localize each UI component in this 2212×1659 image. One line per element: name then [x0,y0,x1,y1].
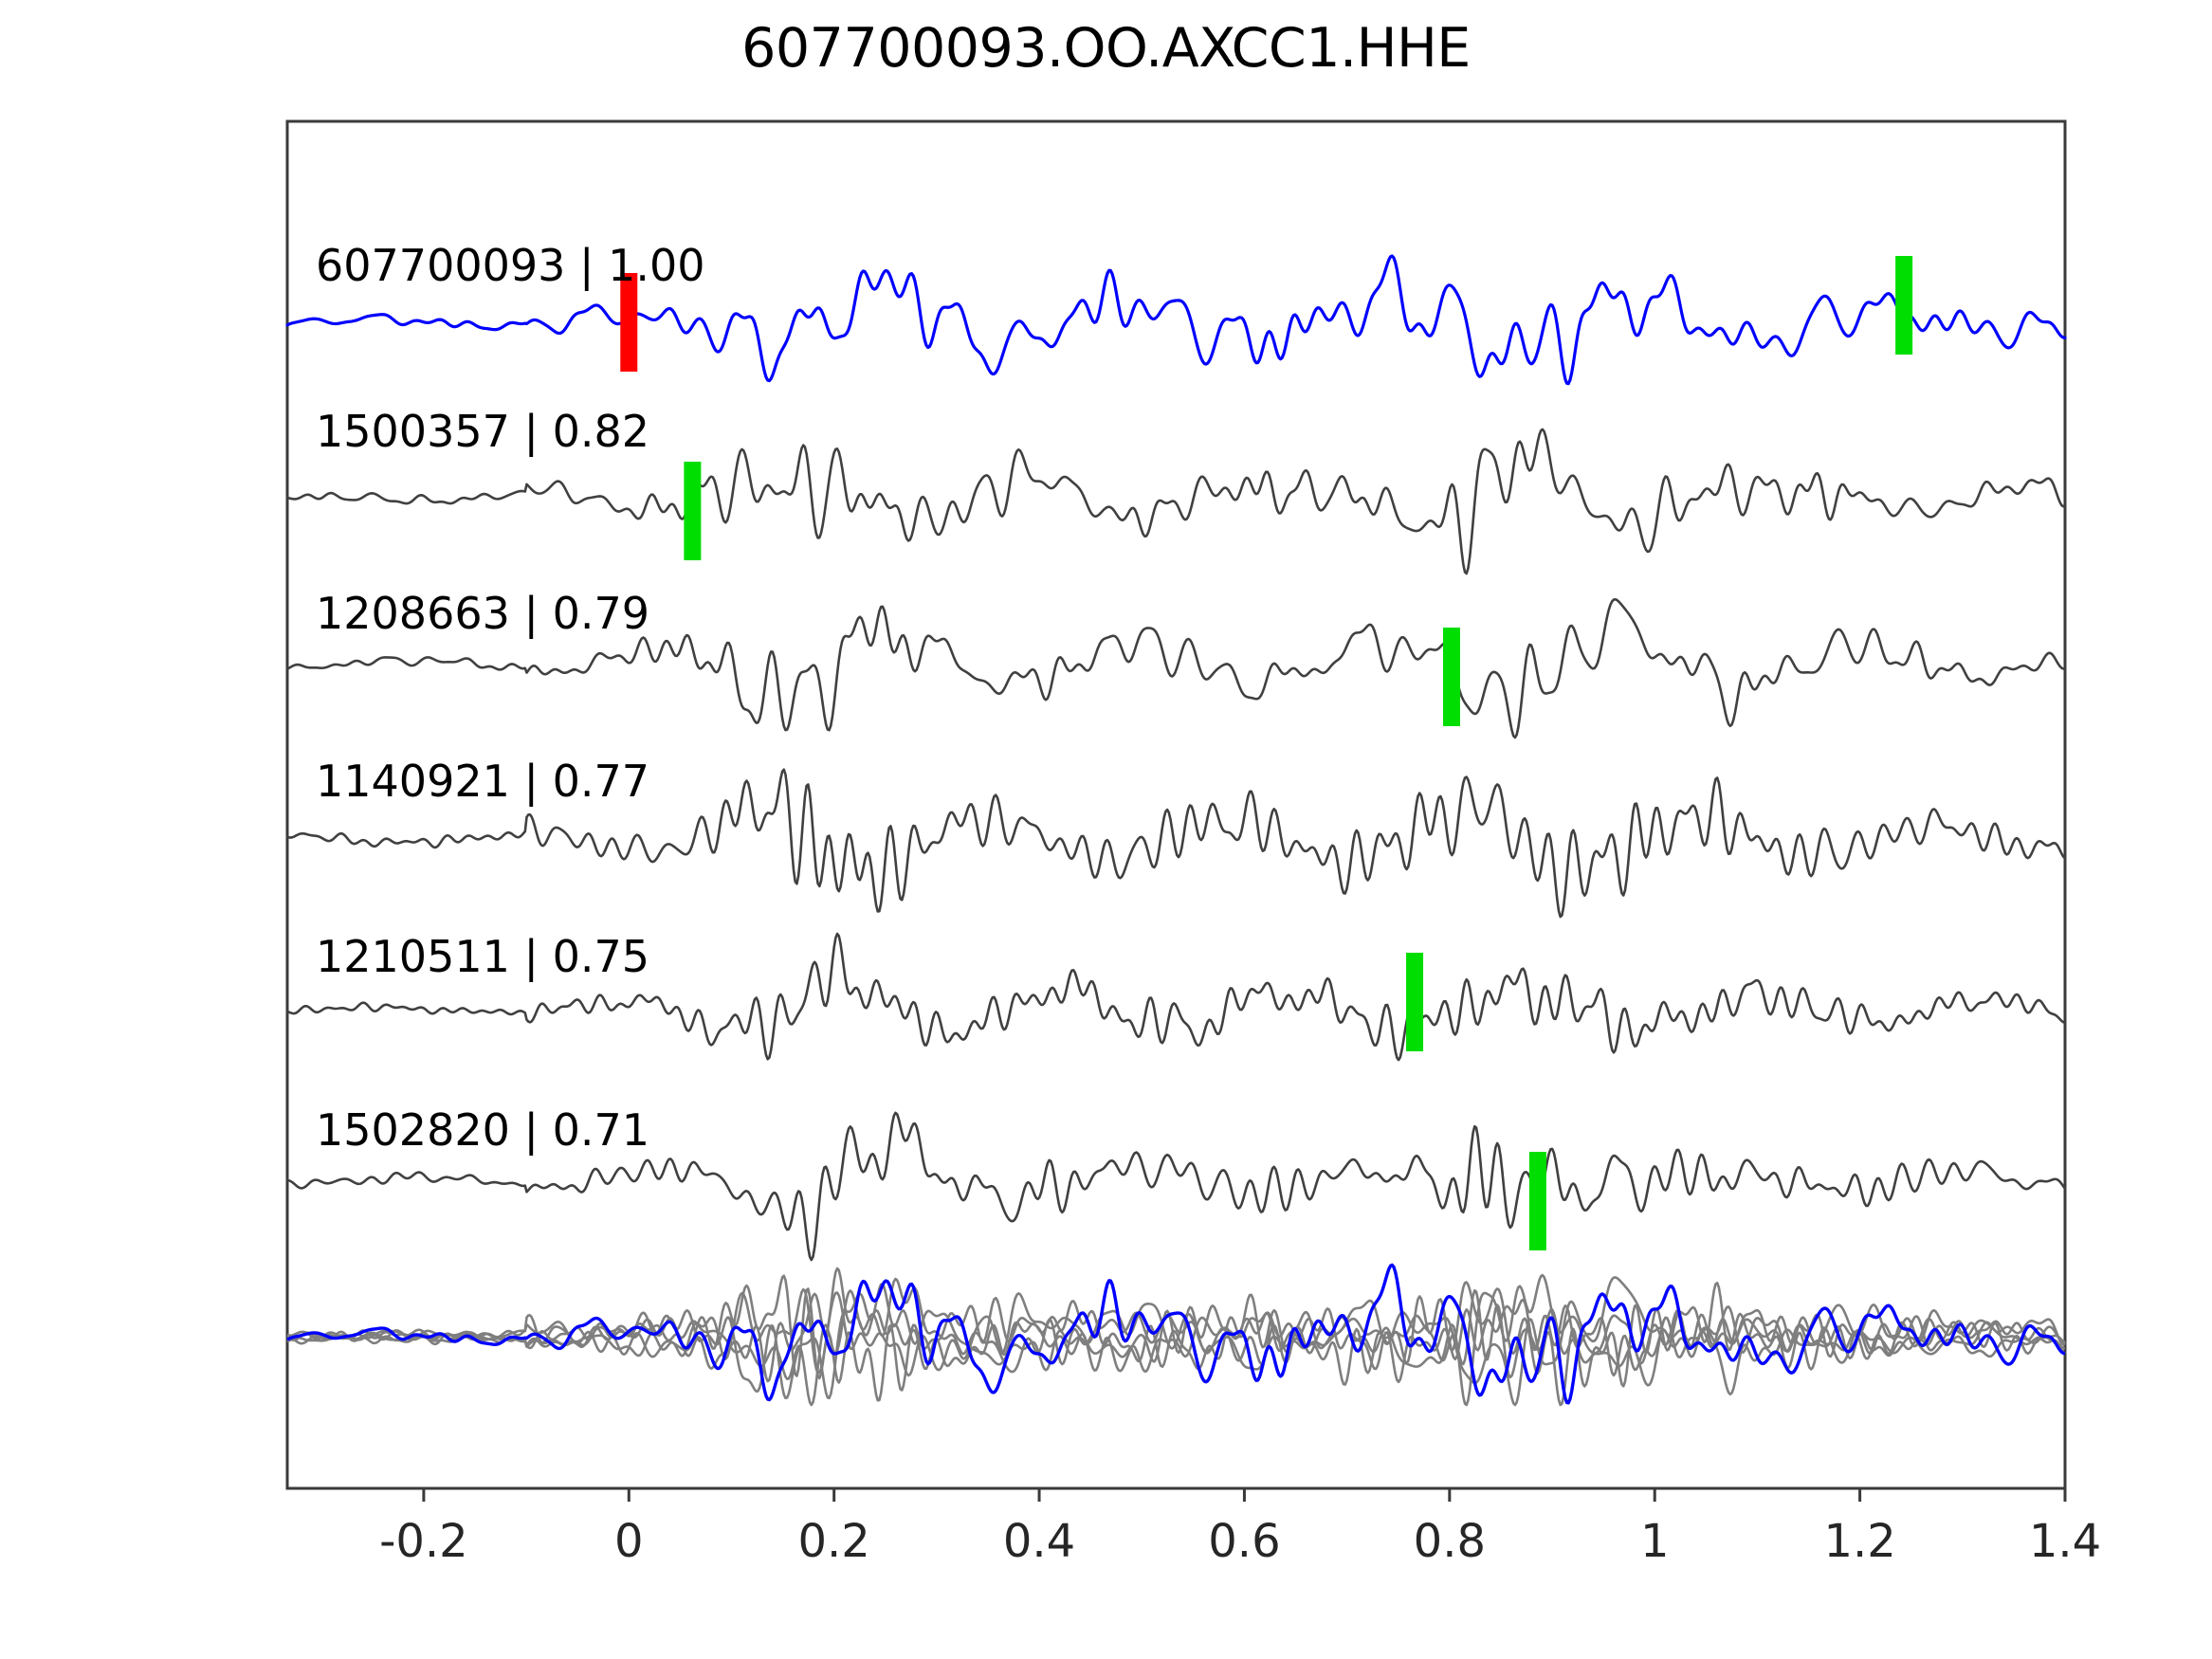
x-axis-ticks [424,1488,2065,1502]
pick-marker-detection [1443,628,1460,726]
trace-label-1208663: 1208663 | 0.79 [316,588,649,639]
x-tick-label: 0.2 [798,1515,870,1568]
trace-label-1140921: 1140921 | 0.77 [316,756,649,807]
x-tick-label: 1 [1640,1515,1670,1568]
trace-label-1500357: 1500357 | 0.82 [316,406,649,457]
trace-label-1210511: 1210511 | 0.75 [316,931,649,982]
x-tick-label: 0.8 [1414,1515,1486,1568]
x-tick-label: -0.2 [379,1515,468,1568]
x-tick-label: 0 [614,1515,644,1568]
trace-label-607700093: 607700093 | 1.00 [316,240,705,291]
pick-marker-detection [1895,256,1912,355]
stack-overlay-panel [287,1265,2065,1405]
x-tick-label: 1.2 [1823,1515,1895,1568]
pick-marker-detection [1406,953,1423,1051]
pick-marker-detection [684,462,701,560]
x-tick-label: 1.4 [2029,1515,2101,1568]
x-tick-label: 0.4 [1003,1515,1075,1568]
trace-label-1502820: 1502820 | 0.71 [316,1104,649,1156]
x-tick-label: 0.6 [1208,1515,1280,1568]
pick-marker-detection [1529,1152,1546,1250]
seismogram-figure: 607700093.OO.AXCC1.HHE -0.200.20.40.60.8… [0,0,2212,1659]
